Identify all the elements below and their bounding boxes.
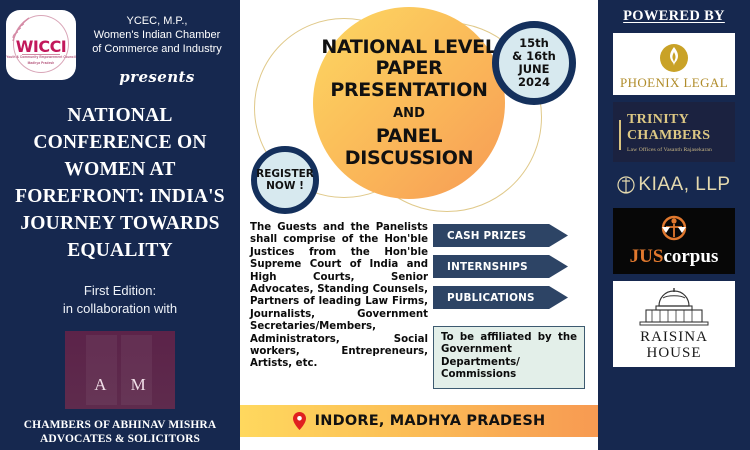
wicci-subtitle-1: Youth & Community Empowerment Council <box>6 55 76 59</box>
edition-line-1: First Edition: <box>63 282 177 300</box>
edition-line-2: in collaboration with <box>63 300 177 318</box>
headline-secondary: PANEL DISCUSSION <box>313 126 505 169</box>
benefit-chevron: PUBLICATIONS <box>433 286 568 309</box>
date-badge-text: 15th & 16th JUNE 2024 <box>512 37 556 89</box>
raisina-dome-icon <box>634 285 714 329</box>
partner-firm-name: CHAMBERS OF ABHINAV MISHRA ADVOCATES & S… <box>24 418 217 446</box>
sponsor-raisina-house: RAISINA HOUSE <box>613 281 735 367</box>
map-pin-icon <box>293 412 306 430</box>
organizer-line-3: of Commerce and Industry <box>80 42 234 56</box>
trinity-line-1: TRINITY <box>621 112 735 128</box>
register-now-label: REGISTER NOW ! <box>256 168 314 192</box>
benefit-label: INTERNSHIPS <box>447 261 528 273</box>
jus-part: JUS <box>630 246 664 267</box>
affiliation-note: To be affiliated by the Government Depar… <box>433 326 585 389</box>
organizer-line-1: YCEC, M.P., <box>80 14 234 28</box>
date-badge: 15th & 16th JUNE 2024 <box>492 21 576 105</box>
trinity-accent-bar <box>619 120 621 150</box>
kiaa-llp-name: KIAA, LLP <box>638 174 730 196</box>
sponsor-trinity-chambers: TRINITY CHAMBERS Law Offices of Vasanth … <box>613 102 735 162</box>
logo-monogram: A M <box>94 375 145 395</box>
benefits-list: CASH PRIZES INTERNSHIPS PUBLICATIONS <box>433 224 588 317</box>
right-column-wrap: CASH PRIZES INTERNSHIPS PUBLICATIONS To … <box>240 222 598 302</box>
headline-primary: NATIONAL LEVEL PAPER PRESENTATION <box>313 37 505 102</box>
organizer-line-2: Women's Indian Chamber <box>80 28 234 42</box>
monogram-m: M <box>131 375 146 395</box>
organizer-name-block: YCEC, M.P., Women's Indian Chamber of Co… <box>76 8 234 86</box>
organizer-header: WICCI Youth & Community Empowerment Coun… <box>0 8 240 86</box>
wicci-subtitle-2: Madhya Pradesh <box>6 61 76 65</box>
corpus-part: corpus <box>663 246 718 267</box>
jus-corpus-wordmark: JUScorpus <box>630 246 719 268</box>
abhinav-mishra-logo: A M <box>65 331 175 409</box>
kiaa-crest-icon <box>617 174 635 196</box>
trinity-line-2: CHAMBERS <box>621 128 735 144</box>
phoenix-flame-icon <box>659 43 689 73</box>
monogram-a: A <box>94 375 106 395</box>
sponsor-phoenix-legal: PHOENIX LEGAL <box>613 33 735 95</box>
register-now-button[interactable]: REGISTER NOW ! <box>251 146 319 214</box>
benefit-chevron: INTERNSHIPS <box>433 255 568 278</box>
location-bar: INDORE, MADHYA PRADESH <box>240 405 598 437</box>
event-poster: WICCI Youth & Community Empowerment Coun… <box>0 0 750 450</box>
location-label: INDORE, MADHYA PRADESH <box>315 413 546 429</box>
benefit-label: CASH PRIZES <box>447 230 526 242</box>
trinity-inner: TRINITY CHAMBERS Law Offices of Vasanth … <box>613 112 735 153</box>
raisina-line-2: HOUSE <box>646 345 701 361</box>
presents-label: presents <box>80 68 234 86</box>
partner-firm-line-2: ADVOCATES & SOLICITORS <box>24 432 217 446</box>
sponsor-jus-corpus: JUScorpus <box>613 208 735 274</box>
left-panel: WICCI Youth & Community Empowerment Coun… <box>0 0 240 450</box>
benefit-chevron: CASH PRIZES <box>433 224 568 247</box>
trinity-tagline: Law Offices of Vasanth Rajasekaran <box>621 147 735 153</box>
right-panel: POWERED BY PHOENIX LEGAL TRINITY CHAMBER… <box>598 0 750 450</box>
wicci-logo: WICCI Youth & Community Empowerment Coun… <box>6 10 76 80</box>
jus-corpus-scales-icon <box>654 214 694 244</box>
sponsor-kiaa-llp: KIAA, LLP <box>613 169 735 201</box>
raisina-line-1: RAISINA <box>640 329 708 345</box>
powered-by-heading: POWERED BY <box>623 8 725 25</box>
phoenix-legal-name: PHOENIX LEGAL <box>620 75 728 91</box>
partner-firm-line-1: CHAMBERS OF ABHINAV MISHRA <box>24 418 217 432</box>
benefit-label: PUBLICATIONS <box>447 292 535 304</box>
conference-title: NATIONAL CONFERENCE ON WOMEN AT FOREFRON… <box>1 102 239 264</box>
headline-conjunction: AND <box>393 106 425 121</box>
edition-block: First Edition: in collaboration with <box>63 282 177 318</box>
headline-circle: NATIONAL LEVEL PAPER PRESENTATION AND PA… <box>313 7 505 199</box>
center-panel: NATIONAL LEVEL PAPER PRESENTATION AND PA… <box>240 0 598 450</box>
